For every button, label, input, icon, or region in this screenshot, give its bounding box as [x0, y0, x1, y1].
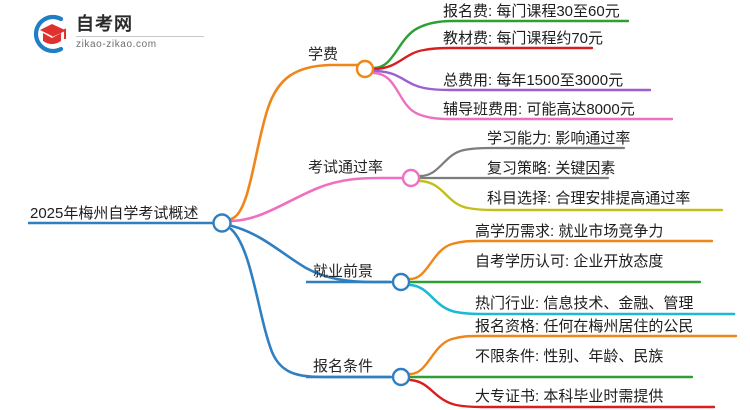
leaf-label-tuition-1[interactable]: 报名费: 每门课程30至60元 [443, 4, 620, 19]
leaf-label-tuition-4[interactable]: 辅导班费用: 可能高达8000元 [443, 102, 635, 117]
requirements-node-circle[interactable] [393, 369, 409, 385]
leaf-label-career-2[interactable]: 自考学历认可: 企业开放态度 [475, 254, 663, 269]
link-root-to-passrate [232, 178, 402, 221]
branch-label-tuition[interactable]: 学费 [308, 47, 338, 62]
leaf-label-passrate-2[interactable]: 复习策略: 关键因素 [487, 161, 615, 176]
branch-label-requirements[interactable]: 报名条件 [313, 359, 373, 374]
link-root-to-requirements [231, 229, 391, 377]
passrate-node-circle[interactable] [403, 170, 419, 186]
leaf-label-tuition-3[interactable]: 总费用: 每年1500至3000元 [443, 73, 623, 88]
leaf-label-career-3[interactable]: 热门行业: 信息技术、金融、管理 [475, 296, 693, 311]
branch-label-passrate[interactable]: 考试通过率 [308, 160, 383, 175]
leaf-label-tuition-2[interactable]: 教材费: 每门课程约70元 [443, 31, 603, 46]
link-root-to-tuition [231, 65, 356, 219]
leaf-label-requirements-1[interactable]: 报名资格: 任何在梅州居住的公民 [475, 319, 693, 334]
tuition-node-circle[interactable] [357, 61, 373, 77]
career-node-circle[interactable] [393, 274, 409, 290]
leaf-label-requirements-2[interactable]: 不限条件: 性别、年龄、民族 [475, 349, 663, 364]
mindmap-canvas: 自考网 zikao-zikao.com [0, 0, 750, 410]
root-node-label[interactable]: 2025年梅州自学考试概述 [30, 206, 198, 221]
leaf-label-career-1[interactable]: 高学历需求: 就业市场竞争力 [475, 224, 663, 239]
leaf-label-passrate-1[interactable]: 学习能力: 影响通过率 [487, 131, 630, 146]
link-tuition-child-2 [374, 48, 592, 69]
root-node-circle[interactable] [214, 215, 231, 232]
leaf-label-passrate-3[interactable]: 科目选择: 合理安排提高通过率 [487, 191, 690, 206]
leaf-label-requirements-3[interactable]: 大专证书: 本科毕业时需提供 [475, 389, 663, 404]
branch-label-career[interactable]: 就业前景 [313, 264, 373, 279]
